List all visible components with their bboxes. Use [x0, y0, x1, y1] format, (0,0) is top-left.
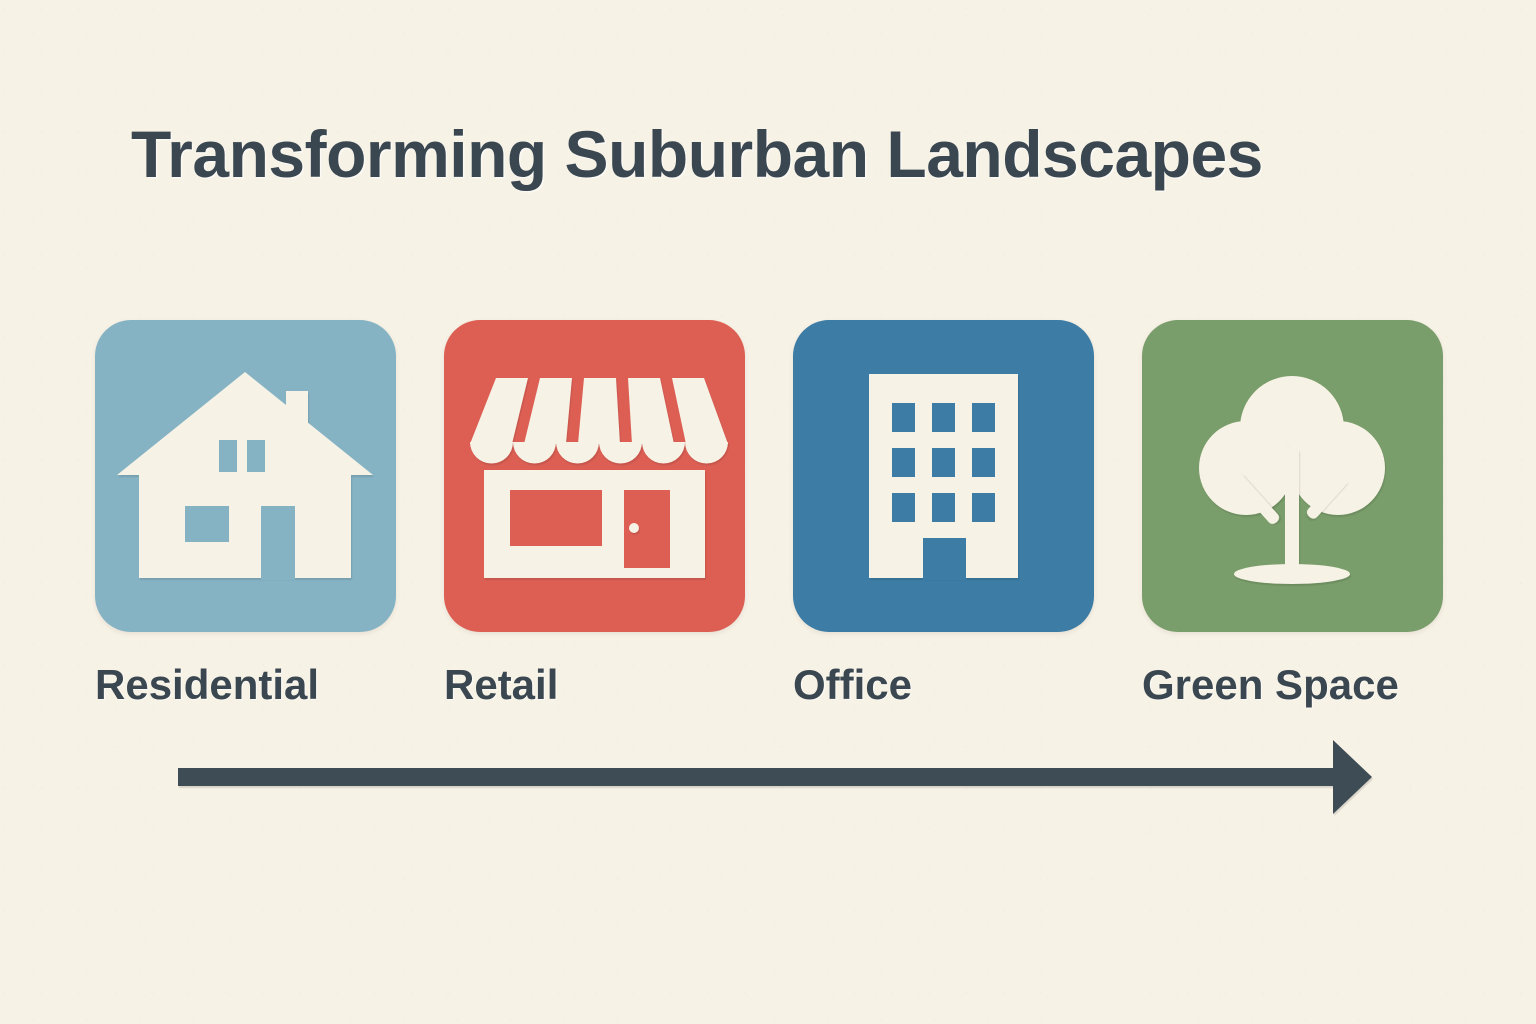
stage-label-row: Residential Retail Office Green Space	[95, 661, 1443, 717]
stage-label-residential: Residential	[95, 661, 396, 717]
stage-tile-green-space[interactable]	[1142, 320, 1443, 632]
page-title: Transforming Suburban Landscapes	[131, 116, 1263, 192]
stage-icon-row	[95, 320, 1443, 632]
stage-label-green-space: Green Space	[1142, 661, 1443, 717]
arrow-right-icon	[178, 740, 1372, 814]
tree-icon	[1199, 376, 1385, 584]
stage-label-office: Office	[793, 661, 1094, 717]
storefront-icon	[470, 378, 728, 578]
progression-arrow	[170, 732, 1380, 822]
stage-tile-office[interactable]	[793, 320, 1094, 632]
stage-tile-residential[interactable]	[95, 320, 396, 632]
stage-label-retail: Retail	[444, 661, 745, 717]
house-icon	[117, 372, 373, 580]
stage-tile-retail[interactable]	[444, 320, 745, 632]
office-building-icon	[869, 374, 1018, 580]
